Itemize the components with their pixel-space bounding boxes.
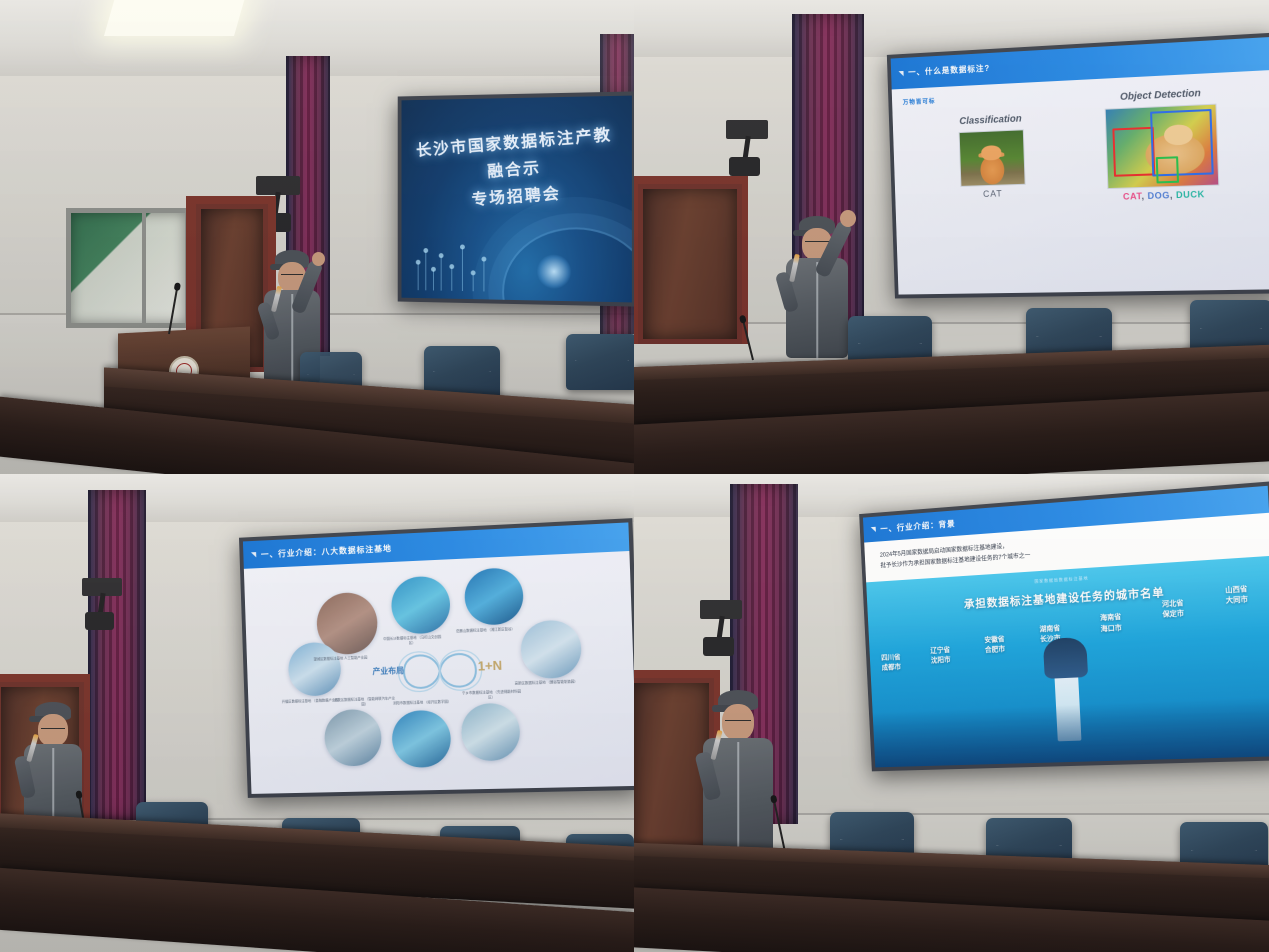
base-bubble	[391, 575, 451, 634]
base-bubble	[461, 702, 522, 761]
door	[638, 184, 742, 344]
bbox-green	[1156, 156, 1180, 183]
detection-caption: Object Detection	[1083, 86, 1239, 105]
slide-what-is-annotation: ◥ 一、什么是数据标注? 万物皆可标 Classification CAT Ob…	[891, 37, 1269, 295]
one-plus-n-badge: 1+N	[477, 657, 502, 673]
head	[722, 704, 754, 740]
detection-column: Object Detection CAT, DOG, DUCK	[1083, 86, 1243, 203]
panel-top-left: 长沙市国家数据标注产教融合示 专场招聘会	[0, 0, 634, 474]
bubble-caption: 宁乡市数据标注基地 （先进储能材料园区）	[460, 689, 523, 701]
cat-photo	[958, 130, 1025, 188]
slide-header-text: 一、行业介绍：背景	[880, 518, 956, 534]
city-entry: 海南省 海口市	[1100, 613, 1122, 635]
stage-glow	[873, 697, 1269, 768]
glasses	[805, 241, 829, 242]
projection-screen: 长沙市国家数据标注产教融合示 专场招聘会	[398, 91, 634, 306]
bbox-red	[1112, 127, 1155, 177]
classification-column: Classification CAT	[936, 113, 1049, 201]
city-entry: 山西省 大同市	[1225, 584, 1248, 606]
projection-screen: ◥ 一、行业介绍：八大数据标注基地	[239, 518, 634, 798]
conference-room: ◥ 一、行业介绍：八大数据标注基地	[0, 474, 634, 952]
dog-photo	[1105, 104, 1220, 189]
camera-icon-wall	[82, 578, 122, 630]
classification-label: CAT	[938, 187, 1049, 200]
slide-title-text: 长沙市国家数据标注产教融合示 专场招聘会	[412, 122, 620, 219]
projection-screen: ◥ 一、行业介绍：背景 2024年5月国家数据局启动国家数据标注基地建设， 批予…	[859, 481, 1269, 771]
panel-bottom-right: ◥ 一、行业介绍：背景 2024年5月国家数据局启动国家数据标注基地建设， 批予…	[634, 474, 1269, 952]
bubble-caption: 雨花区数据标注基地 （智能网联汽车产业园）	[334, 696, 395, 708]
city-entry: 安徽省 合肥市	[984, 635, 1005, 656]
stage-speaker-figure	[1043, 637, 1089, 678]
base-bubble	[464, 567, 525, 627]
glasses	[41, 728, 65, 729]
head	[38, 714, 68, 746]
city-entry: 四川省 成都市	[881, 653, 901, 674]
conference-room: 长沙市国家数据标注产教融合示 专场招聘会	[0, 0, 634, 474]
slide-header-text: 一、行业介绍：八大数据标注基地	[261, 543, 392, 560]
glasses	[281, 274, 303, 275]
jacket-zipper	[816, 262, 818, 373]
city-entry: 河北省 保定市	[1162, 599, 1185, 621]
bubble-caption: 开福区数据标注基地 （金融数据产业园）	[282, 698, 342, 705]
base-bubble	[392, 710, 452, 768]
slide-eight-bases: ◥ 一、行业介绍：八大数据标注基地	[243, 522, 634, 794]
bubble-caption: 高新区数据标注基地 （麓谷智能制造园）	[515, 680, 578, 687]
camera-icon	[700, 600, 742, 656]
header-marker-icon: ◥	[251, 551, 256, 559]
label-cat: CAT	[1123, 191, 1142, 202]
base-bubble	[520, 619, 581, 679]
banner-mini-text: 国家数据局数据标注基地	[1034, 576, 1088, 585]
slide-decor-bars	[410, 231, 504, 292]
hand-raised	[840, 210, 856, 227]
detection-labels: CAT, DOG, DUCK	[1086, 188, 1243, 203]
banner-title: 承担数据标注基地建设任务的城市名单	[867, 578, 1269, 618]
slide-city-list: ◥ 一、行业介绍：背景 2024年5月国家数据局启动国家数据标注基地建设， 批予…	[863, 486, 1269, 768]
panel-top-right: ◥ 一、什么是数据标注? 万物皆可标 Classification CAT Ob…	[634, 0, 1269, 474]
slide-header-text: 一、什么是数据标注?	[908, 63, 990, 78]
label-dog: DOG	[1147, 191, 1170, 202]
header-marker-icon: ◥	[871, 525, 876, 533]
base-bubble	[323, 709, 382, 767]
chair	[566, 334, 634, 390]
photo-collage: 长沙市国家数据标注产教融合示 专场招聘会	[0, 0, 1269, 952]
panel-bottom-left: ◥ 一、行业介绍：八大数据标注基地	[0, 474, 634, 952]
header-marker-icon: ◥	[898, 69, 903, 77]
projection-screen: ◥ 一、什么是数据标注? 万物皆可标 Classification CAT Ob…	[887, 33, 1269, 299]
conference-room: ◥ 一、行业介绍：背景 2024年5月国家数据局启动国家数据标注基地建设， 批予…	[634, 474, 1269, 952]
hand-raised	[312, 252, 325, 266]
glasses	[725, 720, 751, 721]
label-duck: DUCK	[1176, 189, 1205, 200]
city-entry: 辽宁省 沈阳市	[930, 646, 951, 667]
slide-title: 长沙市国家数据标注产教融合示 专场招聘会	[402, 96, 632, 303]
conference-room: ◥ 一、什么是数据标注? 万物皆可标 Classification CAT Ob…	[634, 0, 1269, 474]
slide-decor-glow	[537, 254, 571, 289]
slide-sub-tag: 万物皆可标	[903, 96, 936, 106]
industry-layout-label: 产业布局	[372, 665, 404, 677]
classification-caption: Classification	[936, 113, 1047, 129]
camera-icon	[726, 120, 768, 176]
ceiling-light	[104, 0, 246, 36]
